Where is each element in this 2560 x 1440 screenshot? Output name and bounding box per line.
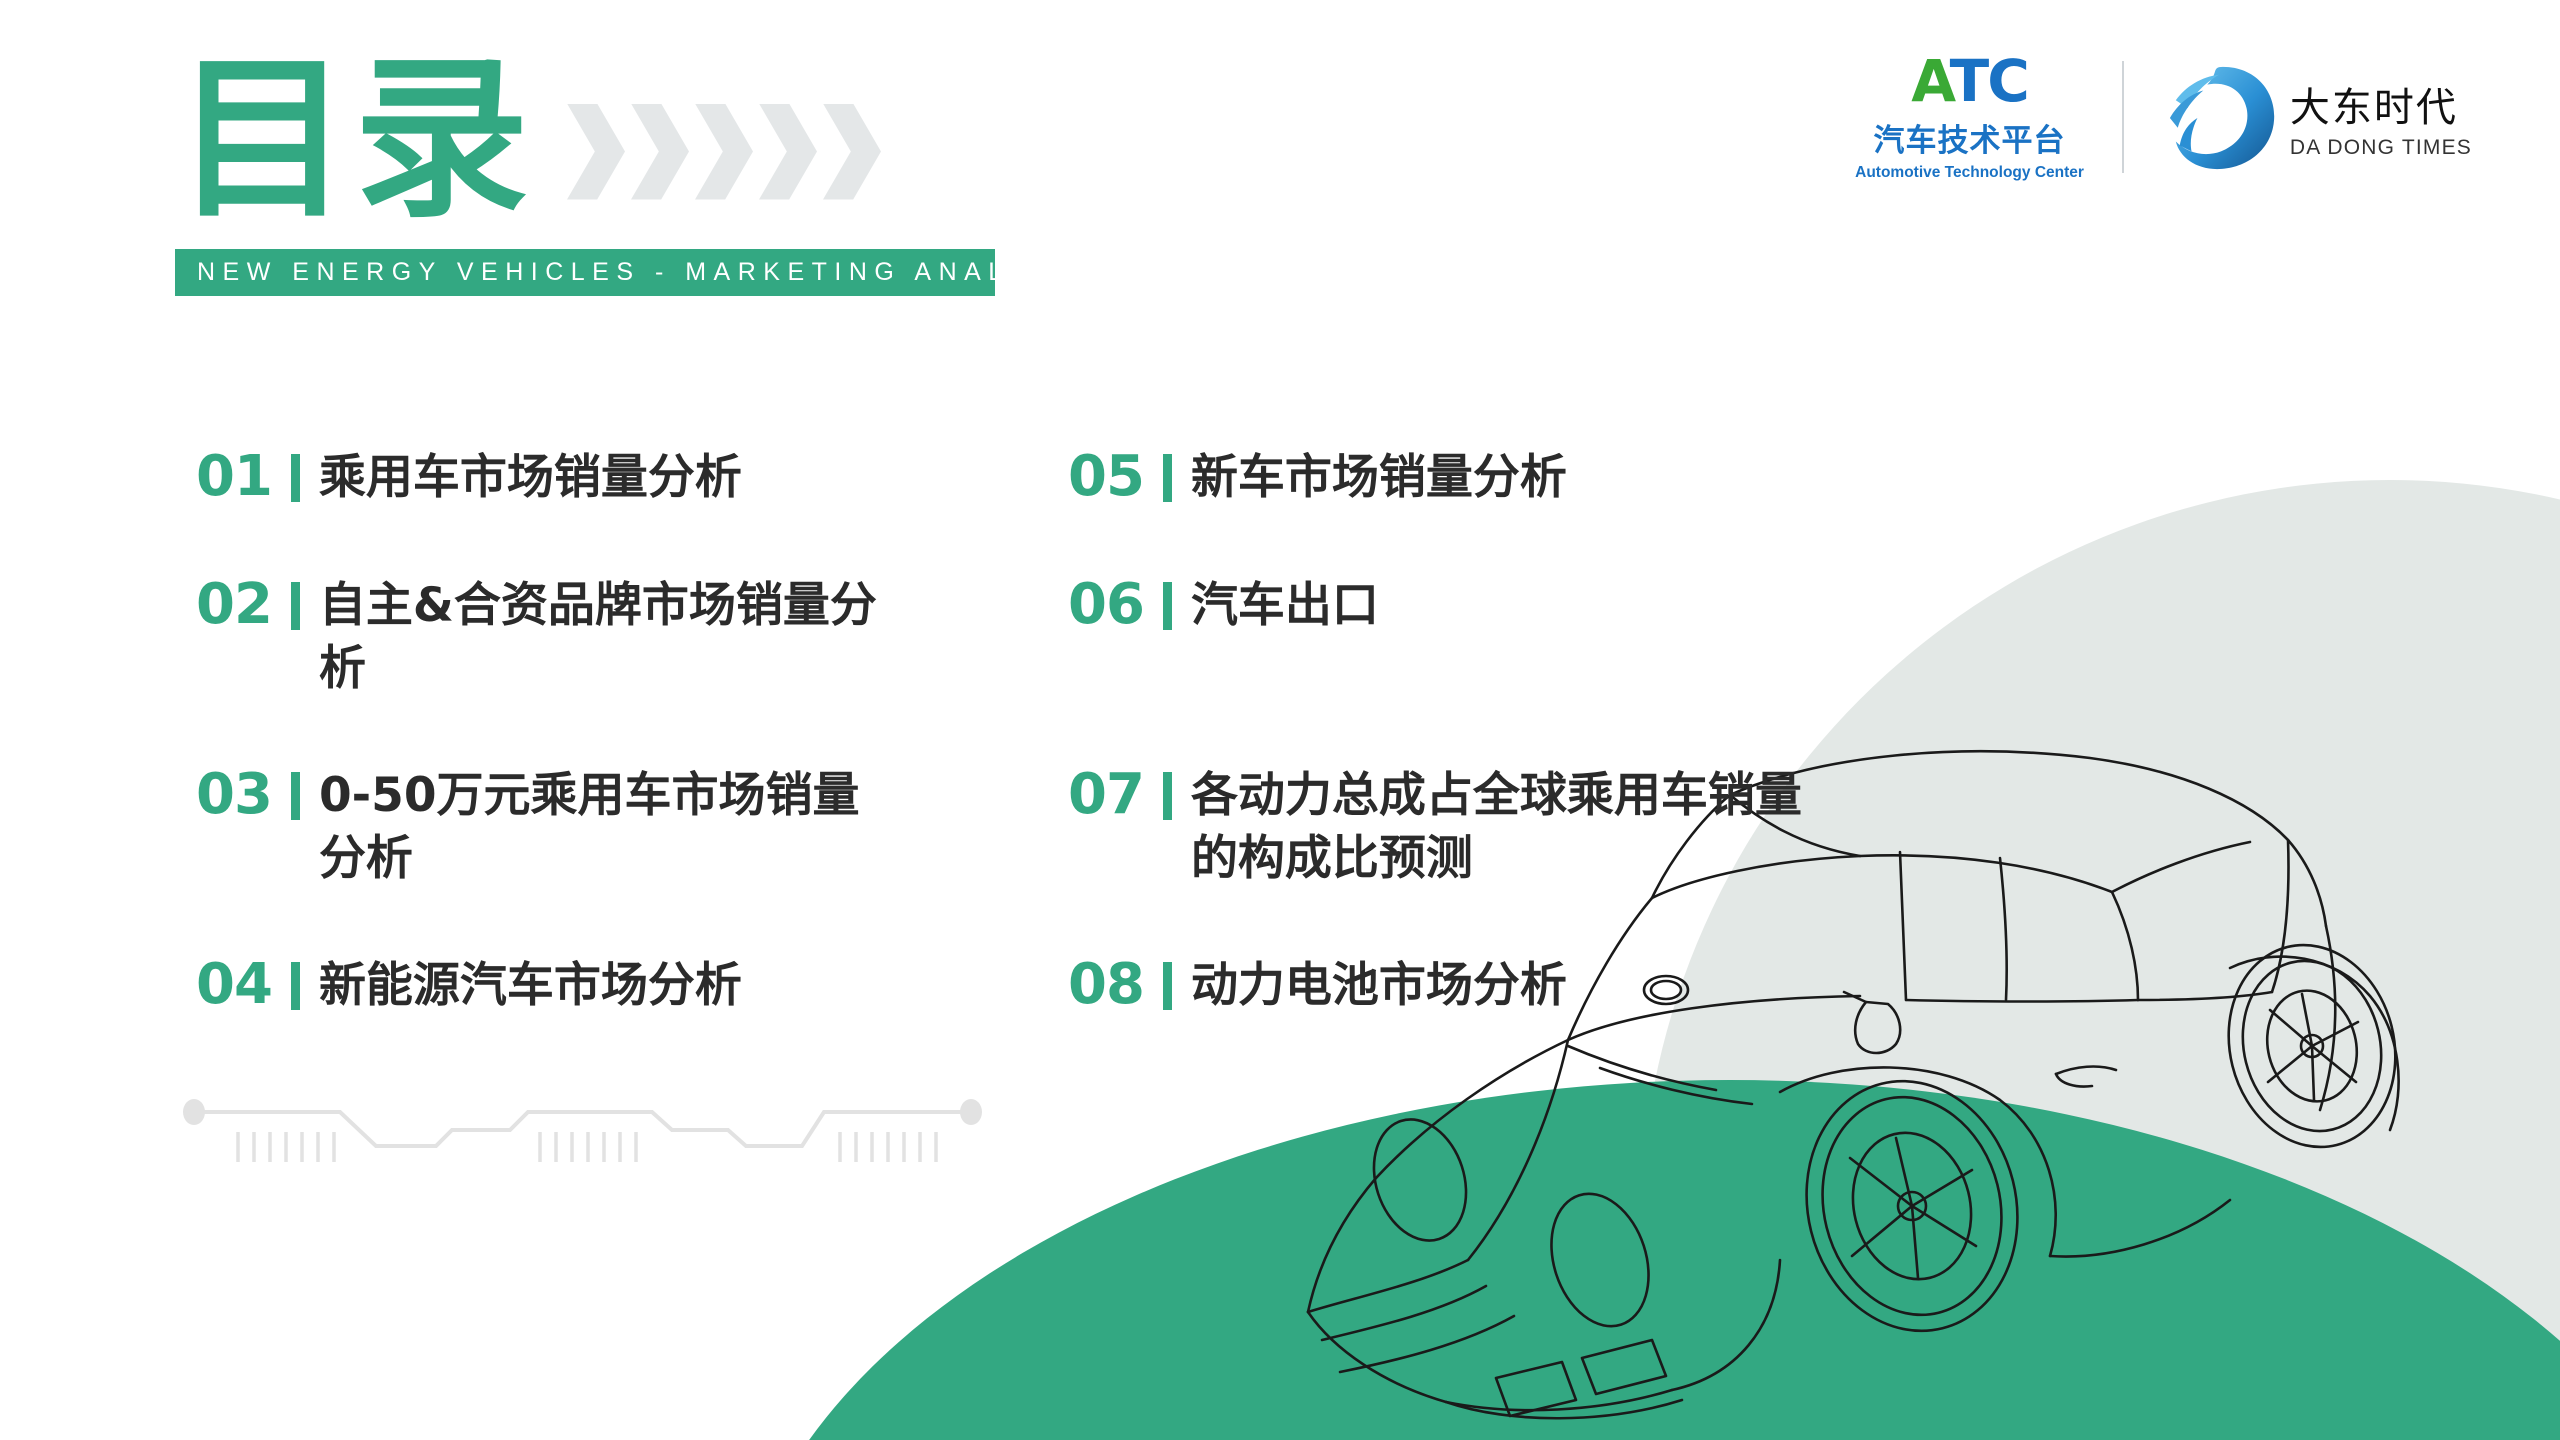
toc-separator-bar xyxy=(291,454,300,502)
dadong-swoosh-icon xyxy=(2162,61,2280,173)
atc-wordmark: ATC xyxy=(1911,52,2028,110)
toc-number: 02 xyxy=(196,574,272,636)
toc-item-07[interactable]: 07 各动力总成占全球乘用车销量的构成比预测 xyxy=(1068,764,1828,890)
chevron-right-icon xyxy=(567,104,625,200)
logo-atc: ATC 汽车技术平台 Automotive Technology Center xyxy=(1855,52,2084,182)
toc-item-01[interactable]: 01 乘用车市场销量分析 xyxy=(196,446,742,509)
toc-separator-bar xyxy=(1163,772,1172,820)
atc-letter-a: A xyxy=(1911,47,1949,115)
title-block: 目录 NEW ENERGY VEHICLES - MARKETING ANALY… xyxy=(175,48,995,296)
toc-label: 乘用车市场销量分析 xyxy=(319,446,742,509)
toc-label: 自主&合资品牌市场销量分析 xyxy=(319,574,896,700)
toc-label: 动力电池市场分析 xyxy=(1191,954,1567,1017)
atc-letters-tc: TC xyxy=(1950,47,2028,115)
atc-english-name: Automotive Technology Center xyxy=(1855,164,2084,182)
chevron-right-icon xyxy=(823,104,881,200)
logo-group: ATC 汽车技术平台 Automotive Technology Center xyxy=(1855,52,2472,182)
toc-item-02[interactable]: 02 自主&合资品牌市场销量分析 xyxy=(196,574,896,700)
toc-item-04[interactable]: 04 新能源汽车市场分析 xyxy=(196,954,742,1017)
logo-divider xyxy=(2122,61,2124,173)
circuit-endpoint-right xyxy=(960,1099,982,1125)
subtitle-text: NEW ENERGY VEHICLES - MARKETING ANALYSIS xyxy=(175,258,1095,287)
toc-separator-bar xyxy=(1163,454,1172,502)
toc-number: 05 xyxy=(1068,446,1144,508)
chevron-right-icon xyxy=(759,104,817,200)
toc-number: 06 xyxy=(1068,574,1144,636)
atc-chinese-name: 汽车技术平台 xyxy=(1874,115,2066,160)
dadong-english-name: DA DONG TIMES xyxy=(2290,136,2472,160)
chevron-decoration xyxy=(567,104,887,200)
slide-canvas: 目录 NEW ENERGY VEHICLES - MARKETING ANALY… xyxy=(0,0,2560,1440)
toc-number: 04 xyxy=(196,954,272,1016)
circuit-line-decoration xyxy=(180,1090,985,1170)
toc-item-06[interactable]: 06 汽车出口 xyxy=(1068,574,1379,637)
logo-dadong: 大东时代 DA DONG TIMES xyxy=(2162,61,2472,173)
toc-separator-bar xyxy=(291,962,300,1010)
toc-number: 08 xyxy=(1068,954,1144,1016)
chevron-right-icon xyxy=(695,104,753,200)
toc-separator-bar xyxy=(291,772,300,820)
toc-number: 07 xyxy=(1068,764,1144,826)
toc-separator-bar xyxy=(1163,582,1172,630)
title-row: 目录 xyxy=(175,48,995,233)
subtitle-banner: NEW ENERGY VEHICLES - MARKETING ANALYSIS xyxy=(175,249,995,296)
toc-label: 新车市场销量分析 xyxy=(1191,446,1567,509)
page-title: 目录 xyxy=(175,53,533,228)
toc-label: 新能源汽车市场分析 xyxy=(319,954,742,1017)
circuit-endpoint-left xyxy=(183,1099,205,1125)
toc-separator-bar xyxy=(1163,962,1172,1010)
toc-number: 03 xyxy=(196,764,272,826)
toc-number: 01 xyxy=(196,446,272,508)
chevron-right-icon xyxy=(631,104,689,200)
toc-item-05[interactable]: 05 新车市场销量分析 xyxy=(1068,446,1567,509)
toc-label: 各动力总成占全球乘用车销量的构成比预测 xyxy=(1191,764,1828,890)
toc-item-03[interactable]: 03 0-50万元乘用车市场销量分析 xyxy=(196,764,896,890)
toc-item-08[interactable]: 08 动力电池市场分析 xyxy=(1068,954,1567,1017)
toc-label: 0-50万元乘用车市场销量分析 xyxy=(319,764,896,890)
toc-separator-bar xyxy=(291,582,300,630)
dadong-text: 大东时代 DA DONG TIMES xyxy=(2290,75,2472,160)
dadong-chinese-name: 大东时代 xyxy=(2290,75,2472,133)
toc-label: 汽车出口 xyxy=(1191,574,1379,637)
